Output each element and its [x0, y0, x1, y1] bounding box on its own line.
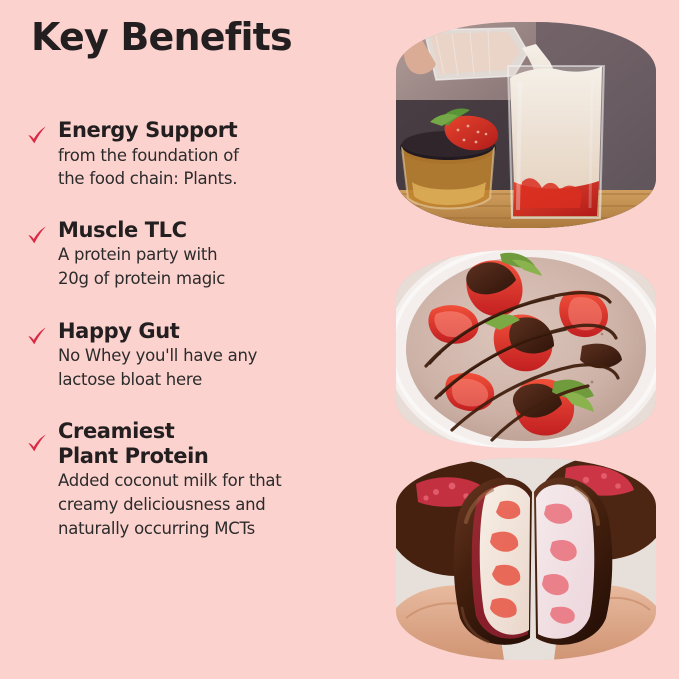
benefit-heading: Creamiest Plant Protein — [58, 419, 380, 468]
benefit-item-energy-support: Energy Support from the foundation of th… — [0, 118, 380, 191]
benefit-body: from the foundation of the food chain: P… — [58, 144, 380, 191]
benefit-body: No Whey you'll have any lactose bloat he… — [58, 344, 380, 391]
benefit-item-creamiest-plant-protein: Creamiest Plant Protein Added coconut mi… — [0, 419, 380, 540]
check-icon — [26, 326, 48, 348]
photo-chocolate-strawberry-bowl — [396, 250, 656, 448]
photo-chocolate-strawberry-halved — [396, 458, 656, 660]
benefit-body: Added coconut milk for that creamy delic… — [58, 469, 380, 540]
page-title: Key Benefits — [31, 18, 292, 56]
benefits-column: Key Benefits Energy Support from the fou… — [0, 0, 380, 679]
check-icon — [26, 125, 48, 147]
benefits-list: Energy Support from the foundation of th… — [0, 118, 380, 559]
benefit-body: A protein party with 20g of protein magi… — [58, 243, 380, 290]
benefit-heading: Energy Support — [58, 118, 380, 143]
photo-strawberry-smoothie-pour — [396, 22, 656, 228]
key-benefits-infographic: Key Benefits Energy Support from the fou… — [0, 0, 679, 679]
check-icon — [26, 433, 48, 455]
check-icon — [26, 225, 48, 247]
benefit-heading: Happy Gut — [58, 319, 380, 344]
benefit-item-happy-gut: Happy Gut No Whey you'll have any lactos… — [0, 319, 380, 392]
benefit-item-muscle-tlc: Muscle TLC A protein party with 20g of p… — [0, 218, 380, 291]
benefit-heading: Muscle TLC — [58, 218, 380, 243]
photo-column — [396, 0, 658, 679]
